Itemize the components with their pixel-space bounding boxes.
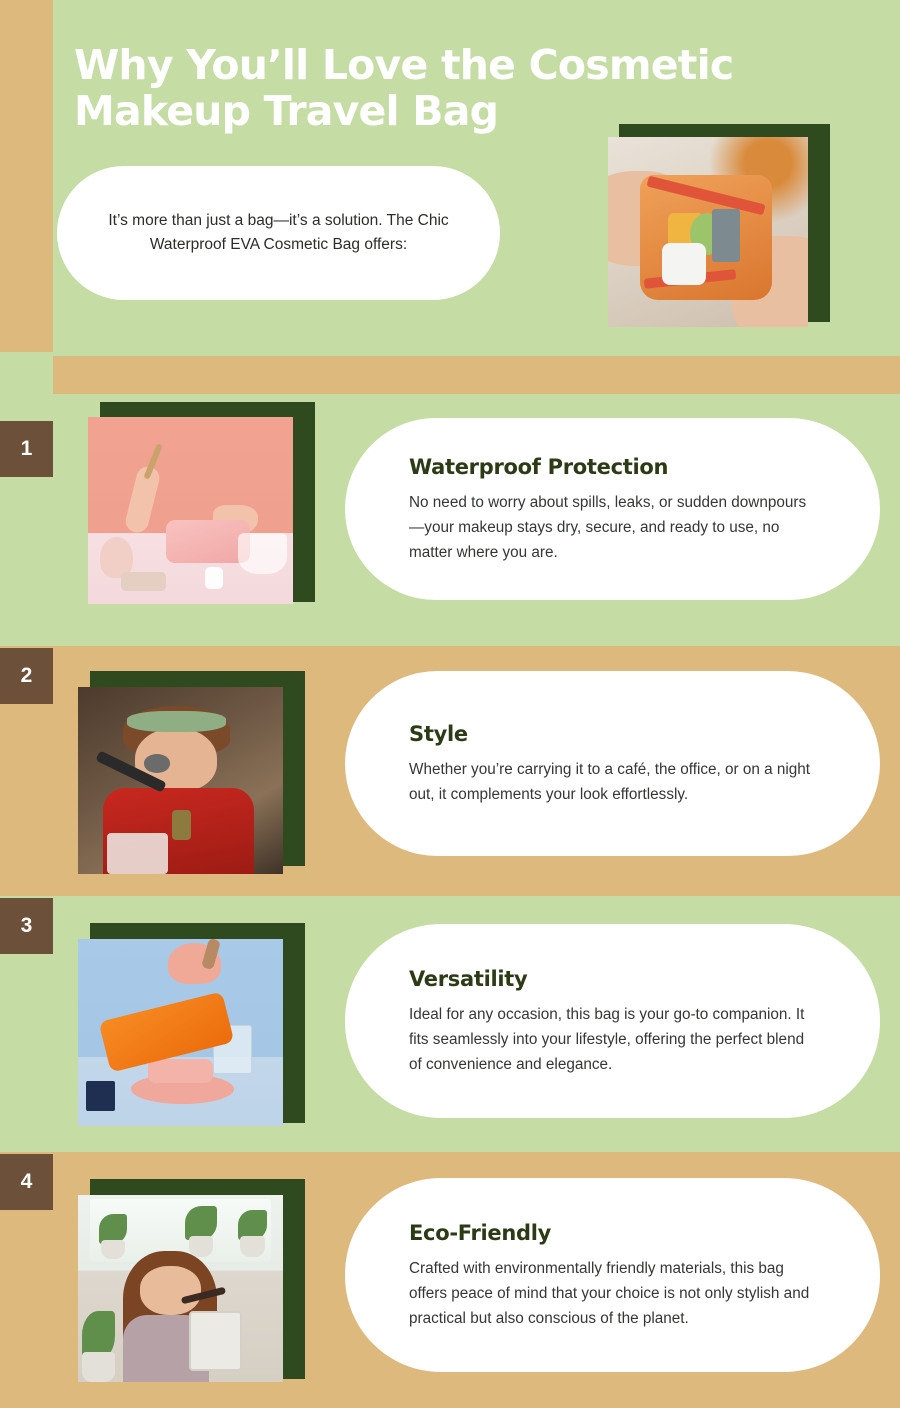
scene-pot-right: [240, 1236, 265, 1257]
feature-1-scene: [88, 417, 293, 604]
infographic-canvas: Why You’ll Love the Cosmetic Makeup Trav…: [0, 0, 900, 1408]
feature-image: [78, 687, 283, 874]
feature-body: Ideal for any occasion, this bag is your…: [409, 1002, 816, 1077]
feature-3-scene: [78, 939, 283, 1126]
feature-card: Style Whether you’re carrying it to a ca…: [345, 671, 880, 856]
feature-row: 3 Versatility Ideal for any occasion, th…: [0, 896, 900, 1152]
scene-face: [140, 1266, 202, 1315]
feature-heading: Waterproof Protection: [409, 454, 816, 480]
scene-pot-mid: [189, 1236, 214, 1257]
scene-brush-cup: [107, 833, 169, 874]
feature-image: [88, 417, 293, 604]
scene-mirror: [189, 1311, 242, 1371]
feature-image: [78, 1195, 283, 1382]
page-title: Why You’ll Love the Cosmetic Makeup Trav…: [74, 42, 834, 134]
feature-heading: Eco-Friendly: [409, 1220, 816, 1246]
scene-pink-cylinder: [148, 1059, 214, 1083]
feature-card: Eco-Friendly Crafted with environmentall…: [345, 1178, 880, 1372]
scene-brush-head: [144, 754, 171, 773]
scene-lipstick: [86, 1081, 115, 1111]
feature-card: Versatility Ideal for any occasion, this…: [345, 924, 880, 1118]
hero-item-white-case: [662, 243, 706, 285]
scene-glass-bowl: [238, 533, 287, 574]
feature-row: 2 Style Whether you’re carrying it to a …: [0, 646, 900, 896]
feature-number: 4: [21, 1170, 33, 1194]
feature-number-badge: 1: [0, 421, 53, 477]
feature-number-badge: 2: [0, 648, 53, 704]
header-left-accent-strip: [0, 0, 53, 352]
feature-body: No need to worry about spills, leaks, or…: [409, 490, 816, 565]
hero-image: [608, 137, 808, 327]
feature-number: 1: [21, 437, 33, 461]
scene-floor-pot: [82, 1352, 115, 1382]
feature-number-badge: 3: [0, 898, 53, 954]
scene-pot-left: [101, 1240, 126, 1259]
hero-item-comb: [712, 209, 740, 262]
header-divider-band: [53, 356, 900, 394]
feature-row: 4 Eco-Friendly: [0, 1152, 900, 1408]
feature-row: 1 Waterproof Protection No need to worry…: [0, 394, 900, 646]
feature-number: 3: [21, 914, 33, 938]
feature-number-badge: 4: [0, 1154, 53, 1210]
feature-body: Crafted with environmentally friendly ma…: [409, 1256, 816, 1331]
hero-scene: [608, 137, 808, 327]
feature-number: 2: [21, 664, 33, 688]
feature-4-scene: [78, 1195, 283, 1382]
feature-image: [78, 939, 283, 1126]
feature-heading: Versatility: [409, 966, 816, 992]
feature-heading: Style: [409, 721, 816, 747]
intro-text: It’s more than just a bag—it’s a solutio…: [101, 209, 456, 257]
scene-necklace: [172, 810, 190, 840]
feature-card: Waterproof Protection No need to worry a…: [345, 418, 880, 600]
scene-compact: [121, 572, 166, 591]
feature-body: Whether you’re carrying it to a café, th…: [409, 757, 816, 807]
feature-2-scene: [78, 687, 283, 874]
intro-callout-pill: It’s more than just a bag—it’s a solutio…: [57, 166, 500, 300]
scene-headband: [127, 711, 225, 732]
scene-white-cube: [205, 567, 223, 589]
header-section: Why You’ll Love the Cosmetic Makeup Trav…: [0, 0, 900, 356]
